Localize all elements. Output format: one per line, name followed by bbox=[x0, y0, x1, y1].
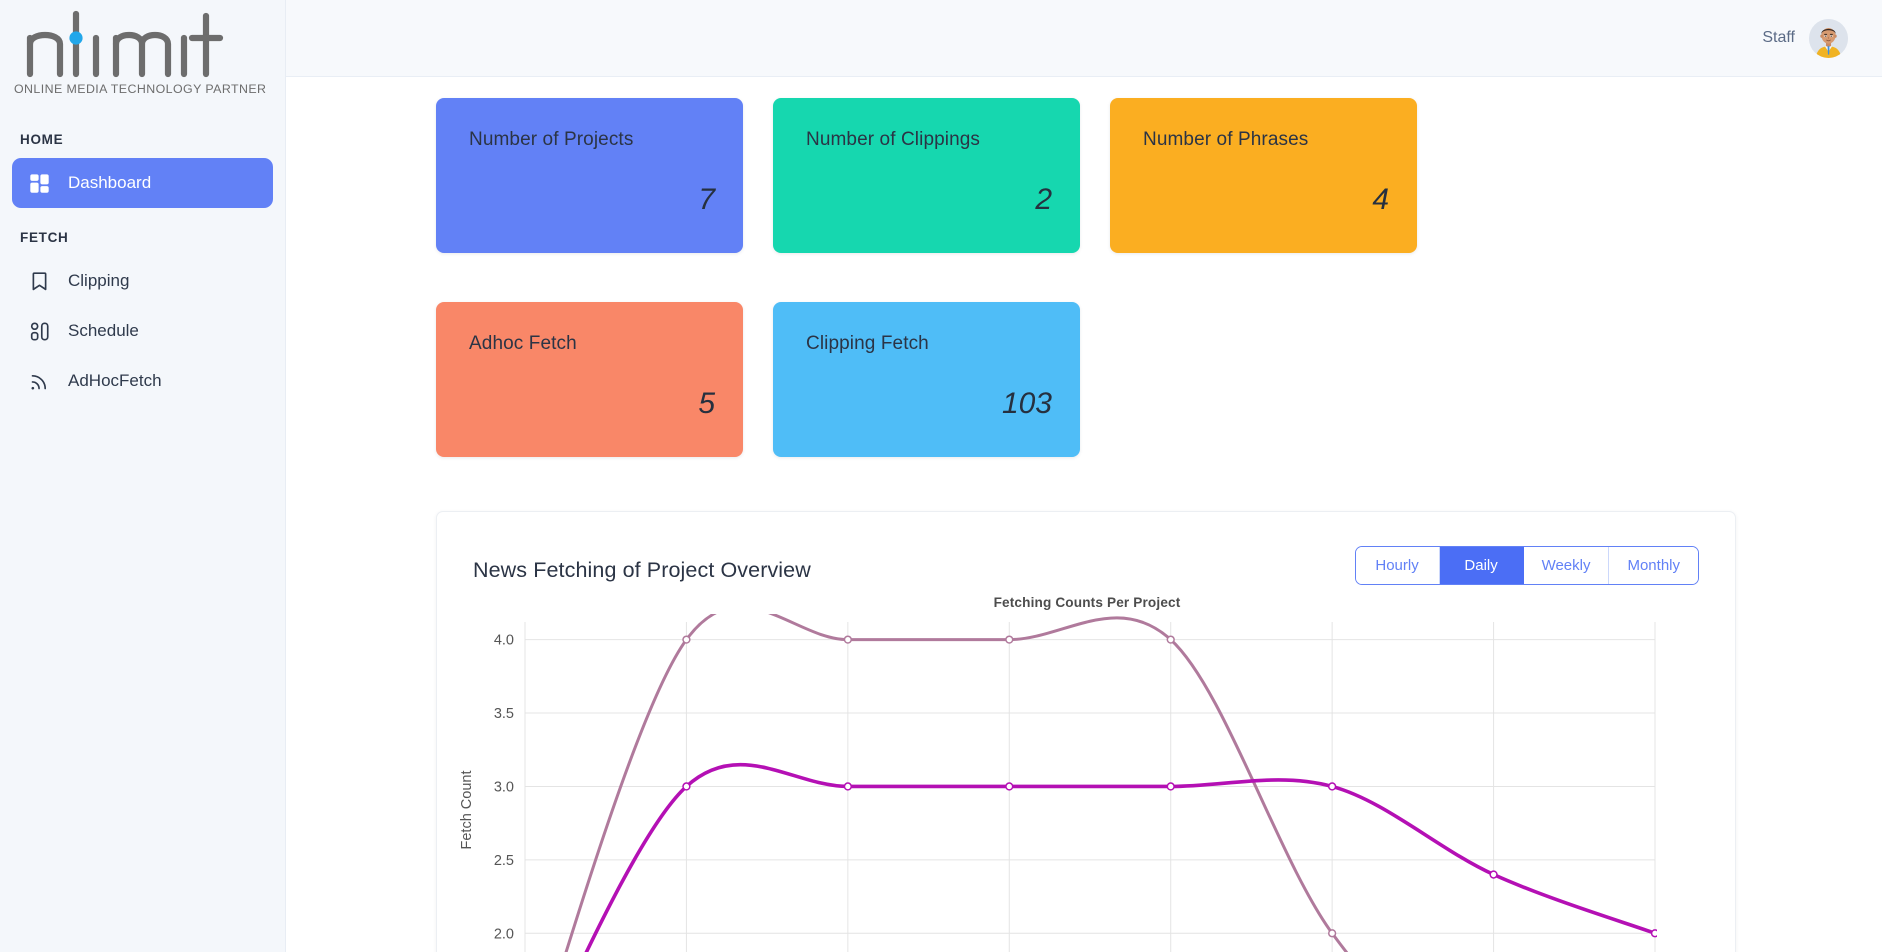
brand-tagline: ONLINE MEDIA TECHNOLOGY PARTNER bbox=[14, 82, 269, 96]
main-area: Staff bbox=[286, 0, 1882, 952]
dashboard-page: ONLINE MEDIA TECHNOLOGY PARTNER HOME Das… bbox=[0, 0, 1882, 952]
sidebar-section-fetch-label: FETCH bbox=[0, 230, 285, 245]
chart-plot: Fetch Count 2.02.53.03.54.0 bbox=[473, 614, 1701, 952]
card-value: 5 bbox=[698, 389, 715, 419]
range-toggle-weekly[interactable]: Weekly bbox=[1524, 547, 1610, 584]
stat-cards: Number of Projects 7 Number of Clippings… bbox=[286, 77, 1882, 457]
dashboard-grid-icon bbox=[28, 172, 50, 194]
card-number-of-clippings[interactable]: Number of Clippings 2 bbox=[773, 98, 1080, 253]
chart-panel-title: News Fetching of Project Overview bbox=[473, 558, 811, 583]
card-label: Adhoc Fetch bbox=[469, 332, 715, 356]
chart-y-axis-label: Fetch Count bbox=[459, 771, 475, 850]
card-label: Clipping Fetch bbox=[806, 332, 1052, 356]
stat-card-row-1: Number of Projects 7 Number of Clippings… bbox=[436, 98, 1882, 253]
card-value: 2 bbox=[1035, 185, 1052, 215]
range-toggle-group: Hourly Daily Weekly Monthly bbox=[1355, 546, 1699, 585]
schedule-icon bbox=[28, 320, 50, 342]
sidebar-item-label: Clipping bbox=[68, 271, 129, 291]
card-number-of-projects[interactable]: Number of Projects 7 bbox=[436, 98, 743, 253]
bookmark-icon bbox=[28, 270, 50, 292]
brand-logo[interactable]: ONLINE MEDIA TECHNOLOGY PARTNER bbox=[0, 0, 285, 110]
chart-y-tick-label: 3.0 bbox=[494, 779, 514, 795]
chart-y-tick-label: 2.5 bbox=[494, 853, 514, 869]
range-toggle-monthly[interactable]: Monthly bbox=[1609, 547, 1698, 584]
chart: Fetching Counts Per Project Fetch Count … bbox=[473, 595, 1701, 952]
card-value: 103 bbox=[1002, 389, 1052, 419]
chart-y-tick-label: 4.0 bbox=[494, 633, 514, 649]
sidebar-item-dashboard[interactable]: Dashboard bbox=[12, 158, 273, 208]
content: Number of Projects 7 Number of Clippings… bbox=[286, 77, 1882, 952]
sidebar-item-clipping[interactable]: Clipping bbox=[12, 256, 273, 306]
rss-icon bbox=[28, 370, 50, 392]
card-clipping-fetch[interactable]: Clipping Fetch 103 bbox=[773, 302, 1080, 457]
sidebar-item-label: AdHocFetch bbox=[68, 371, 162, 391]
sidebar-item-label: Schedule bbox=[68, 321, 139, 341]
card-number-of-phrases[interactable]: Number of Phrases 4 bbox=[1110, 98, 1417, 253]
range-toggle-daily[interactable]: Daily bbox=[1440, 547, 1524, 584]
chart-y-tick-label: 2.0 bbox=[494, 926, 514, 942]
stat-card-row-2: Adhoc Fetch 5 Clipping Fetch 103 bbox=[436, 302, 1882, 457]
avatar[interactable] bbox=[1809, 19, 1848, 58]
chart-y-tick-label: 3.5 bbox=[494, 706, 514, 722]
brand-wordmark-icon bbox=[20, 8, 232, 80]
user-name: Staff bbox=[1762, 29, 1795, 47]
chart-panel: News Fetching of Project Overview Hourly… bbox=[436, 511, 1736, 952]
card-adhoc-fetch[interactable]: Adhoc Fetch 5 bbox=[436, 302, 743, 457]
chart-svg: 2.02.53.03.54.0 bbox=[473, 614, 1701, 952]
card-label: Number of Phrases bbox=[1143, 128, 1389, 152]
range-toggle-hourly[interactable]: Hourly bbox=[1356, 547, 1440, 584]
sidebar-item-schedule[interactable]: Schedule bbox=[12, 306, 273, 356]
card-label: Number of Clippings bbox=[806, 128, 1052, 152]
sidebar: ONLINE MEDIA TECHNOLOGY PARTNER HOME Das… bbox=[0, 0, 286, 952]
sidebar-item-label: Dashboard bbox=[68, 173, 151, 193]
card-label: Number of Projects bbox=[469, 128, 715, 152]
chart-series-1 bbox=[522, 765, 1659, 952]
sidebar-nav-home: Dashboard bbox=[0, 158, 285, 208]
chart-title: Fetching Counts Per Project bbox=[473, 595, 1701, 610]
user-menu[interactable]: Staff bbox=[1762, 19, 1848, 58]
sidebar-item-adhocfetch[interactable]: AdHocFetch bbox=[12, 356, 273, 406]
topbar: Staff bbox=[286, 0, 1882, 77]
chart-header: News Fetching of Project Overview Hourly… bbox=[473, 546, 1699, 585]
sidebar-section-home-label: HOME bbox=[0, 132, 285, 147]
card-value: 7 bbox=[698, 185, 715, 215]
card-value: 4 bbox=[1372, 185, 1389, 215]
sidebar-nav-fetch: Clipping Schedule bbox=[0, 256, 285, 406]
